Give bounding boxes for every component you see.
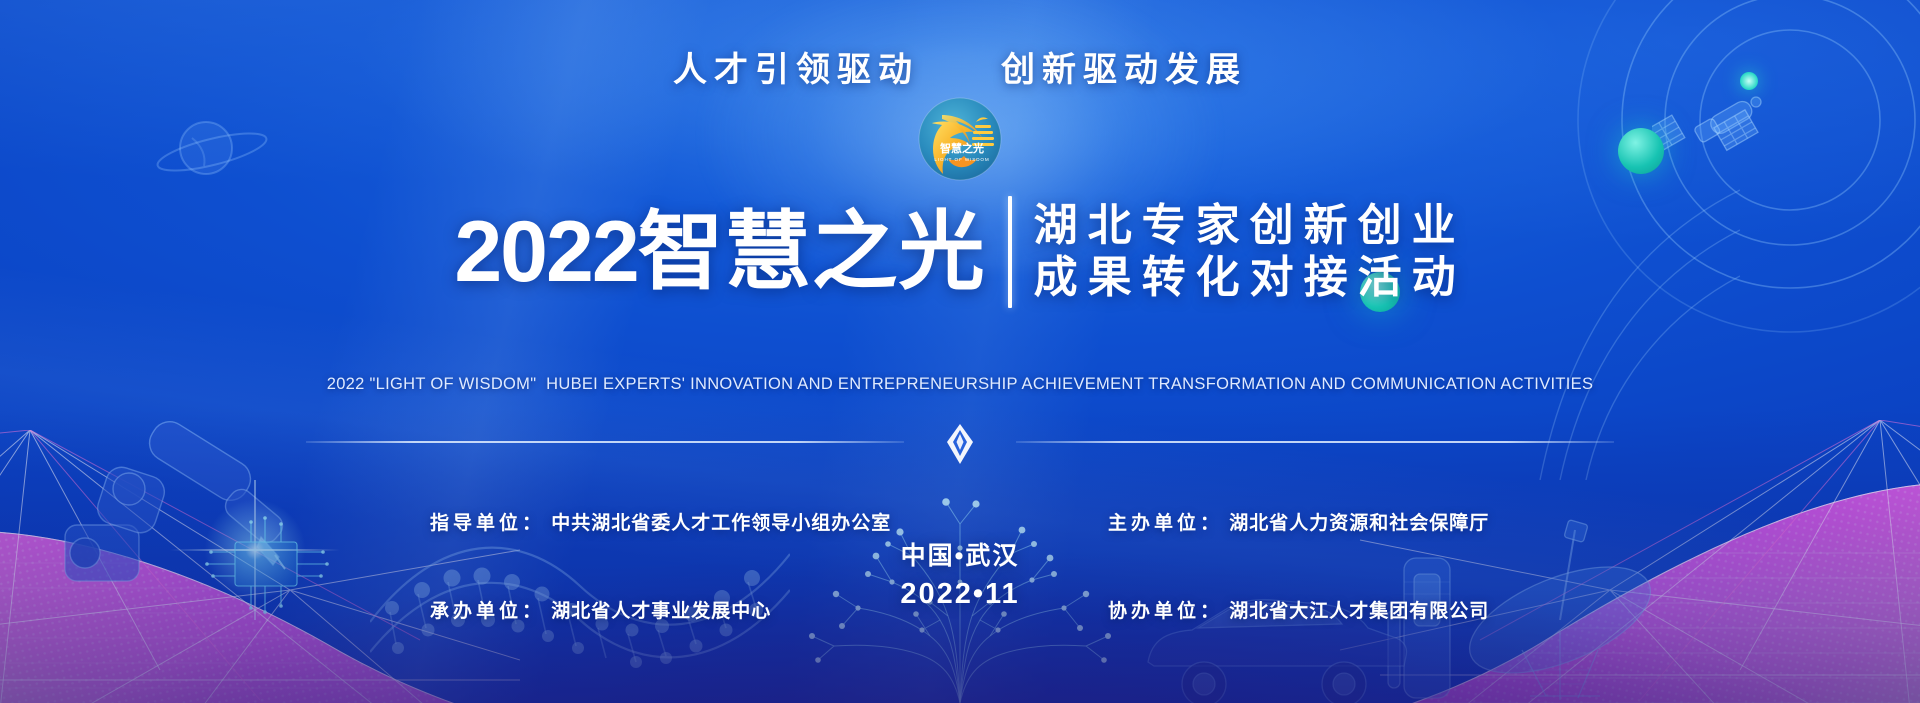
organizer-row: 主办单位： 湖北省人力资源和社会保障厅 <box>1108 509 1489 538</box>
logo-cn-text: 智慧之光 <box>940 141 984 155</box>
organizer-key: 主办单位： <box>1108 513 1223 534</box>
ringed-planet-icon <box>140 108 290 192</box>
teal-sphere-icon <box>1618 128 1664 174</box>
divider-line-left <box>306 441 904 443</box>
tagline: 人才引领驱动 创新驱动发展 <box>0 42 1920 91</box>
title-right-line1: 湖北专家创新创业 <box>1034 200 1466 252</box>
logo-en-text: LIGHT OF WISDOM <box>934 157 989 162</box>
subtitle-english: 2022 "LIGHT OF WISDOM" HUBEI EXPERTS' IN… <box>0 375 1920 394</box>
organizer-row: 指导单位： 中共湖北省委人才工作领导小组办公室 <box>430 509 891 538</box>
date-text: 2022•11 <box>900 578 1019 611</box>
title-right: 湖北专家创新创业 成果转化对接活动 <box>1034 200 1466 304</box>
satellite-icon <box>1652 78 1792 188</box>
title-right-line2: 成果转化对接活动 <box>1034 252 1466 304</box>
light-of-wisdom-emblem: 智慧之光 LIGHT OF WISDOM <box>918 97 1002 181</box>
main-title: 2022智慧之光 湖北专家创新创业 成果转化对接活动 <box>0 196 1920 308</box>
organizer-value: 湖北省人才事业发展中心 <box>551 601 771 622</box>
organizer-key: 承办单位： <box>430 601 545 622</box>
organizer-row: 承办单位： 湖北省人才事业发展中心 <box>430 597 891 626</box>
organizer-key: 指导单位： <box>430 513 545 534</box>
organizers-right: 主办单位： 湖北省人力资源和社会保障厅 协办单位： 湖北省大江人才集团有限公司 <box>1108 450 1489 686</box>
title-left: 2022智慧之光 <box>454 209 1007 295</box>
weld-spark-icon <box>170 465 340 635</box>
diamond-icon <box>938 420 982 466</box>
organizer-key: 协办单位： <box>1108 601 1223 622</box>
title-cn-main: 智慧之光 <box>638 204 986 300</box>
organizers-left: 指导单位： 中共湖北省委人才工作领导小组办公室 承办单位： 湖北省人才事业发展中… <box>430 450 891 686</box>
title-year: 2022 <box>454 204 637 300</box>
organizer-row: 协办单位： 湖北省大江人才集团有限公司 <box>1108 597 1489 626</box>
organizer-value: 中共湖北省委人才工作领导小组办公室 <box>551 513 891 534</box>
organizer-value: 湖北省大江人才集团有限公司 <box>1229 601 1489 622</box>
event-banner: 人才引领驱动 创新驱动发展 <box>0 0 1920 703</box>
location-text: 中国•武汉 <box>900 536 1019 572</box>
title-divider <box>1008 196 1012 308</box>
location-date: 中国•武汉 2022•11 <box>900 536 1019 611</box>
divider-line-right <box>1016 441 1614 443</box>
organizer-value: 湖北省人力资源和社会保障厅 <box>1229 513 1489 534</box>
